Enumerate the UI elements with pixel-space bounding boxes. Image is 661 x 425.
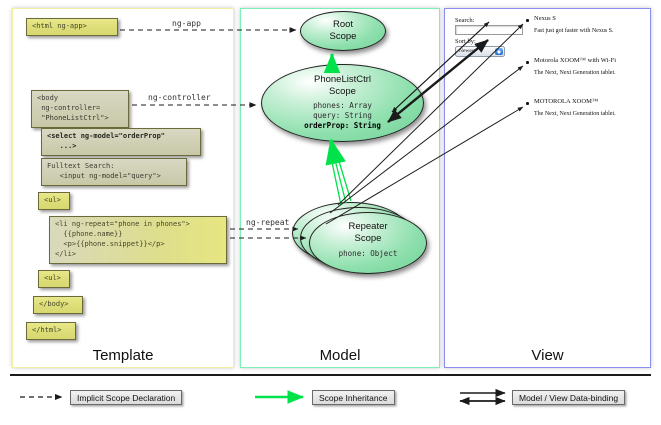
phone-name-0: Nexus S [534,15,556,22]
template-column-panel: Template [12,8,234,368]
li-repeat-box: <li ng-repeat="phone in phones"> {{phone… [49,216,227,264]
phonelistctrl-prop-orderprop: orderProp: String [262,121,423,131]
root-scope-title-line2: Scope [301,31,385,43]
phone-bullet-0 [526,19,529,22]
phone-name-2: MOTOROLA XOOM™ [534,98,598,105]
html-tag-box: <html ng-app> [26,18,118,36]
select-tag-box: <select ng-model="orderProp" ...> [41,128,201,156]
legend-scope-inheritance: Scope Inheritance [312,390,395,405]
phone-bullet-2 [526,102,529,105]
html-close-box: </html> [26,322,76,340]
search-input[interactable] [455,25,523,35]
legend-separator [10,374,651,376]
ul-open-box: <ul> [38,192,70,210]
diagram-canvas: Template <html ng-app> <body ng-controll… [0,0,661,425]
phonelistctrl-prop-phones: phones: Array [262,101,423,111]
model-column-panel: Model [240,8,440,368]
ul-close-box: <ul> [38,270,70,288]
phonelistctrl-scope-title-line1: PhoneListCtrl [262,74,423,86]
root-scope-title-line1: Root [301,19,385,31]
phone-snippet-2: The Next, Next Generation tablet. [534,111,616,117]
phonelistctrl-prop-query: query: String [262,111,423,121]
root-scope-ellipse: Root Scope [300,11,386,51]
search-label: Search: [455,17,475,24]
ng-app-edge-label: ng-app [172,19,201,28]
legend-double-arrow-icon [460,393,505,401]
fulltext-search-box: Fulltext Search: <input ng-model="query"… [41,158,187,186]
phonelistctrl-scope-ellipse: PhoneListCtrl Scope phones: Array query:… [261,64,424,142]
phonelistctrl-scope-title-line2: Scope [262,86,423,98]
sort-by-select[interactable]: Newest [455,46,505,57]
template-column-label: Template [13,347,233,364]
repeater-prop-phone: phone: Object [310,249,426,259]
body-close-box: </body> [33,296,83,314]
sort-by-label: Sort by: [455,38,476,45]
model-column-label: Model [241,347,439,364]
phone-name-1: Motorola XOOM™ with Wi-Fi [534,57,616,64]
repeater-scope-title-line1: Repeater [310,221,426,233]
chevron-updown-icon[interactable] [495,48,503,55]
body-tag-box: <body ng-controller= "PhoneListCtrl"> [31,90,129,128]
ng-repeat-edge-label: ng-repeat [246,218,289,227]
repeater-scope-ellipse: Repeater Scope phone: Object [309,212,427,274]
sort-by-selected-value: Newest [459,48,476,54]
phone-bullet-1 [526,61,529,64]
phone-snippet-1: The Next, Next Generation tablet. [534,70,616,76]
legend-model-view-data-binding: Model / View Data-binding [512,390,625,405]
repeater-scope-title-line2: Scope [310,233,426,245]
legend-implicit-scope-declaration: Implicit Scope Declaration [70,390,182,405]
phone-snippet-0: Fast just got faster with Nexus S. [534,28,614,34]
ng-controller-edge-label: ng-controller [148,93,211,102]
view-column-label: View [445,347,650,364]
